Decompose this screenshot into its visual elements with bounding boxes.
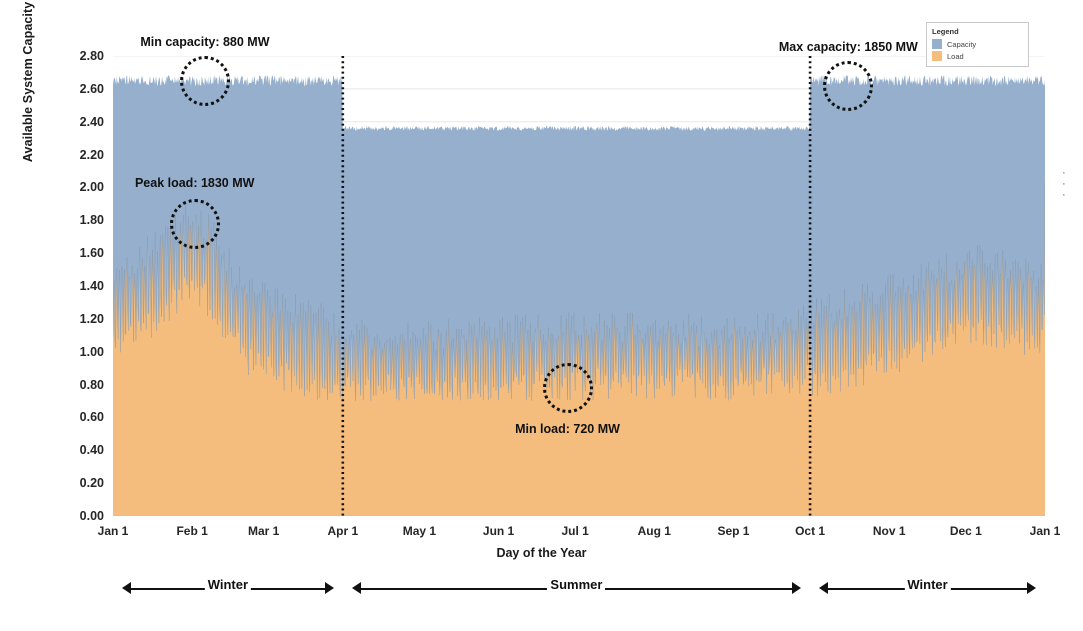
x-tick-label: Jan 1 (98, 524, 129, 538)
arrow-left-icon (819, 582, 828, 594)
legend-swatch-icon (932, 51, 942, 61)
x-tick-label: Sep 1 (717, 524, 749, 538)
x-tick-label: Jun 1 (483, 524, 514, 538)
legend-swatch-icon (932, 39, 942, 49)
winter-2-label: Winter (904, 577, 950, 592)
y-tick-label: 0.80 (58, 378, 104, 392)
summer-label: Summer (547, 577, 605, 592)
y-tick-label: 1.80 (58, 213, 104, 227)
y-axis-title: Available System Capacity (GW) (21, 0, 35, 175)
y-tick-label: 2.80 (58, 49, 104, 63)
y-tick-label: 2.20 (58, 148, 104, 162)
arrow-right-icon (325, 582, 334, 594)
x-tick-label: Oct 1 (795, 524, 825, 538)
min-load-label: Min load: 720 MW (515, 422, 620, 436)
x-tick-label: Apr 1 (327, 524, 358, 538)
arrow-right-icon (1027, 582, 1036, 594)
y-tick-label: 1.60 (58, 246, 104, 260)
y-tick-label: 1.00 (58, 345, 104, 359)
x-tick-label: Nov 1 (873, 524, 906, 538)
y-tick-label: 1.20 (58, 312, 104, 326)
peak-load-label: Peak load: 1830 MW (135, 176, 255, 190)
right-margin-marks: ··· (1062, 168, 1066, 201)
x-tick-label: Dec 1 (950, 524, 982, 538)
max-capacity-label: Max capacity: 1850 MW (779, 40, 918, 54)
plot-area (113, 56, 1045, 516)
min-load-marker (543, 363, 593, 413)
legend-item-label: Capacity (947, 40, 976, 49)
y-tick-label: 0.20 (58, 476, 104, 490)
y-tick-label: 2.00 (58, 180, 104, 194)
arrow-right-icon (792, 582, 801, 594)
legend-item-label: Load (947, 52, 964, 61)
legend-item[interactable]: Capacity (932, 39, 1023, 49)
x-tick-label: Jul 1 (561, 524, 588, 538)
y-tick-label: 0.40 (58, 443, 104, 457)
y-tick-label: 2.40 (58, 115, 104, 129)
arrow-left-icon (352, 582, 361, 594)
chart-legend: Legend CapacityLoad (926, 22, 1029, 67)
min-capacity-label: Min capacity: 880 MW (140, 35, 269, 49)
legend-items: CapacityLoad (932, 39, 1023, 61)
x-tick-label: May 1 (403, 524, 436, 538)
chart-svg (113, 56, 1045, 516)
arrow-left-icon (122, 582, 131, 594)
x-tick-label: Aug 1 (638, 524, 671, 538)
x-tick-label: Feb 1 (176, 524, 207, 538)
peak-load-marker (170, 199, 220, 249)
y-tick-label: 0.00 (58, 509, 104, 523)
y-tick-label: 2.60 (58, 82, 104, 96)
y-tick-label: 0.60 (58, 410, 104, 424)
chart-container: Available System Capacity (GW) 2.802.602… (0, 0, 1083, 631)
min-capacity-marker (180, 56, 230, 106)
legend-title: Legend (932, 27, 1023, 36)
y-tick-label: 1.40 (58, 279, 104, 293)
x-tick-label: Mar 1 (248, 524, 279, 538)
legend-item[interactable]: Load (932, 51, 1023, 61)
season-band-axis: WinterSummerWinter (0, 572, 1083, 612)
winter-1-label: Winter (205, 577, 251, 592)
x-axis-title: Day of the Year (0, 546, 1083, 560)
max-capacity-marker (823, 61, 873, 111)
x-tick-label: Jan 1 (1030, 524, 1061, 538)
